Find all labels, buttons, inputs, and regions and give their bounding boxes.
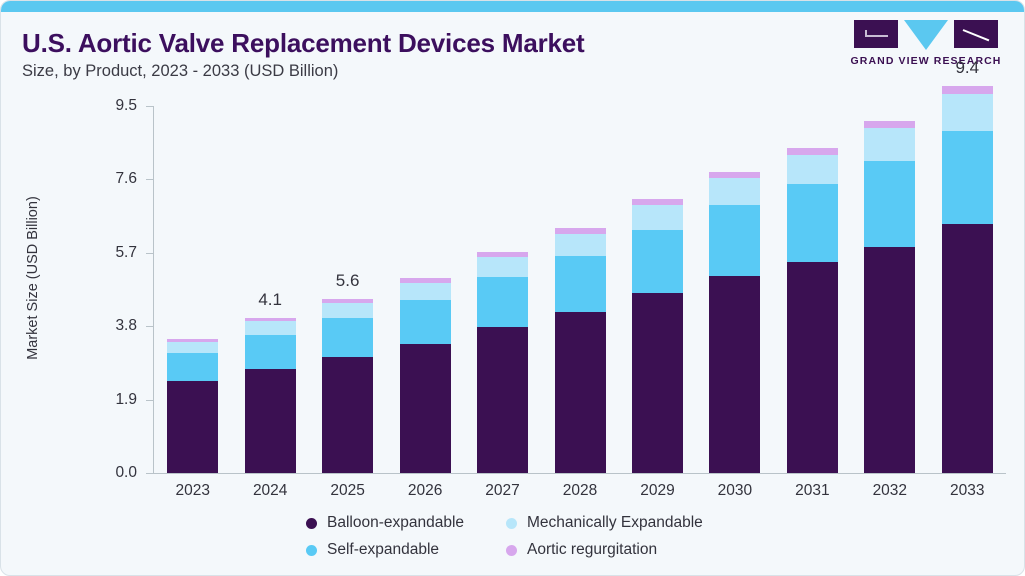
bar-segment[interactable] bbox=[555, 312, 606, 473]
bar-segment[interactable] bbox=[555, 256, 606, 311]
bar-stack bbox=[167, 339, 218, 473]
bar-segment[interactable] bbox=[787, 155, 838, 185]
bar-stack bbox=[864, 121, 915, 473]
y-tick-mark bbox=[146, 473, 154, 474]
bar-segment[interactable] bbox=[864, 128, 915, 161]
x-axis-line bbox=[153, 473, 1006, 474]
bar-stack bbox=[787, 148, 838, 473]
bar-group[interactable] bbox=[864, 106, 915, 473]
logo-r-mark bbox=[954, 20, 998, 48]
bar-segment[interactable] bbox=[632, 205, 683, 230]
bar-segment[interactable] bbox=[942, 131, 993, 224]
x-tick-label: 2025 bbox=[309, 482, 386, 500]
bar-segment[interactable] bbox=[709, 276, 760, 473]
x-tick-label: 2029 bbox=[619, 482, 696, 500]
bar-segment[interactable] bbox=[787, 148, 838, 155]
y-axis-ticks: 0.01.93.85.77.69.5 bbox=[85, 90, 137, 490]
bar-stack bbox=[322, 299, 373, 473]
bar-segment[interactable] bbox=[787, 184, 838, 262]
chart-legend: Balloon-expandableMechanically Expandabl… bbox=[1, 506, 1025, 568]
x-tick-label: 2033 bbox=[929, 482, 1006, 500]
bar-segment[interactable] bbox=[167, 342, 218, 353]
logo-r-bar-icon bbox=[963, 29, 990, 41]
y-tick-mark bbox=[146, 179, 154, 180]
accent-stripe bbox=[1, 1, 1025, 12]
legend-label: Self-expandable bbox=[327, 541, 439, 559]
bar-segment[interactable] bbox=[400, 344, 451, 473]
legend-color-swatch-icon bbox=[306, 518, 317, 529]
bar-stack bbox=[942, 86, 993, 473]
page-subtitle: Size, by Product, 2023 - 2033 (USD Billi… bbox=[22, 62, 338, 81]
bar-segment[interactable] bbox=[864, 121, 915, 128]
legend-item[interactable]: Aortic regurgitation bbox=[506, 541, 657, 559]
y-tick-label: 5.7 bbox=[91, 244, 137, 262]
bar-group[interactable] bbox=[167, 106, 218, 473]
x-tick-label: 2031 bbox=[774, 482, 851, 500]
legend-label: Balloon-expandable bbox=[327, 514, 464, 532]
bar-segment[interactable] bbox=[942, 86, 993, 94]
bar-segment[interactable] bbox=[245, 369, 296, 473]
bar-segment[interactable] bbox=[709, 205, 760, 276]
bar-segment[interactable] bbox=[709, 178, 760, 205]
bar-segment[interactable] bbox=[167, 381, 218, 473]
y-tick-label: 3.8 bbox=[91, 317, 137, 335]
bar-segment[interactable] bbox=[787, 262, 838, 473]
y-axis-label: Market Size (USD Billion) bbox=[25, 128, 41, 428]
legend-label: Aortic regurgitation bbox=[527, 541, 657, 559]
legend-color-swatch-icon bbox=[306, 545, 317, 556]
bar-segment[interactable] bbox=[477, 327, 528, 473]
plot-area: Market Size (USD Billion) 0.01.93.85.77.… bbox=[1, 90, 1025, 490]
bar-segment[interactable] bbox=[322, 357, 373, 473]
bar-stack bbox=[245, 318, 296, 473]
bar-value-label: 9.4 bbox=[955, 58, 979, 78]
y-tick-mark bbox=[146, 253, 154, 254]
y-tick-label: 1.9 bbox=[91, 391, 137, 409]
logo-v-triangle-icon bbox=[904, 20, 948, 50]
bar-segment[interactable] bbox=[632, 293, 683, 473]
y-tick-label: 0.0 bbox=[91, 464, 137, 482]
bar-group[interactable]: 4.1 bbox=[245, 106, 296, 473]
legend-color-swatch-icon bbox=[506, 518, 517, 529]
bar-segment[interactable] bbox=[555, 234, 606, 256]
x-tick-label: 2028 bbox=[541, 482, 618, 500]
x-tick-label: 2027 bbox=[464, 482, 541, 500]
y-tick-mark bbox=[146, 326, 154, 327]
bar-series-container: 4.15.69.4 bbox=[154, 106, 1006, 473]
bar-group[interactable]: 5.6 bbox=[322, 106, 373, 473]
bar-segment[interactable] bbox=[477, 257, 528, 277]
x-tick-label: 2032 bbox=[851, 482, 928, 500]
bar-segment[interactable] bbox=[322, 303, 373, 318]
logo-g-tick-icon bbox=[865, 30, 867, 36]
legend-color-swatch-icon bbox=[506, 545, 517, 556]
bar-segment[interactable] bbox=[942, 224, 993, 473]
bar-group[interactable] bbox=[400, 106, 451, 473]
bar-segment[interactable] bbox=[245, 321, 296, 335]
bar-segment[interactable] bbox=[322, 318, 373, 357]
bar-value-label: 5.6 bbox=[336, 271, 360, 291]
bar-stack bbox=[555, 228, 606, 473]
bar-group[interactable] bbox=[709, 106, 760, 473]
y-tick-label: 9.5 bbox=[91, 97, 137, 115]
legend-label: Mechanically Expandable bbox=[527, 514, 703, 532]
bar-group[interactable] bbox=[555, 106, 606, 473]
bar-value-label: 4.1 bbox=[258, 290, 282, 310]
logo-g-bar-icon bbox=[865, 35, 888, 37]
bar-segment[interactable] bbox=[400, 300, 451, 344]
bar-segment[interactable] bbox=[400, 283, 451, 300]
legend-item[interactable]: Mechanically Expandable bbox=[506, 514, 703, 532]
x-tick-label: 2026 bbox=[386, 482, 463, 500]
legend-item[interactable]: Self-expandable bbox=[306, 541, 439, 559]
bar-segment[interactable] bbox=[864, 247, 915, 473]
x-tick-label: 2024 bbox=[231, 482, 308, 500]
legend-item[interactable]: Balloon-expandable bbox=[306, 514, 464, 532]
bar-stack bbox=[400, 278, 451, 473]
bar-segment[interactable] bbox=[632, 230, 683, 294]
bar-group[interactable] bbox=[632, 106, 683, 473]
x-tick-label: 2023 bbox=[154, 482, 231, 500]
bar-segment[interactable] bbox=[942, 94, 993, 131]
y-tick-mark bbox=[146, 106, 154, 107]
bar-segment[interactable] bbox=[245, 335, 296, 369]
bar-group[interactable]: 9.4 bbox=[942, 106, 993, 473]
bar-group[interactable] bbox=[477, 106, 528, 473]
bar-group[interactable] bbox=[787, 106, 838, 473]
bar-segment[interactable] bbox=[167, 353, 218, 381]
bar-stack bbox=[709, 172, 760, 473]
x-tick-label: 2030 bbox=[696, 482, 773, 500]
grand-view-research-logo: GRAND VIEW RESEARCH bbox=[846, 17, 1006, 75]
bar-segment[interactable] bbox=[477, 277, 528, 327]
page-title: U.S. Aortic Valve Replacement Devices Ma… bbox=[22, 28, 585, 59]
chart-card: U.S. Aortic Valve Replacement Devices Ma… bbox=[0, 0, 1025, 576]
bar-segment[interactable] bbox=[864, 161, 915, 247]
bar-stack bbox=[477, 252, 528, 473]
logo-wordmark: GRAND VIEW RESEARCH bbox=[846, 55, 1006, 67]
bar-stack bbox=[632, 199, 683, 473]
logo-g-mark bbox=[854, 20, 898, 48]
y-tick-mark bbox=[146, 400, 154, 401]
y-tick-label: 7.6 bbox=[91, 170, 137, 188]
